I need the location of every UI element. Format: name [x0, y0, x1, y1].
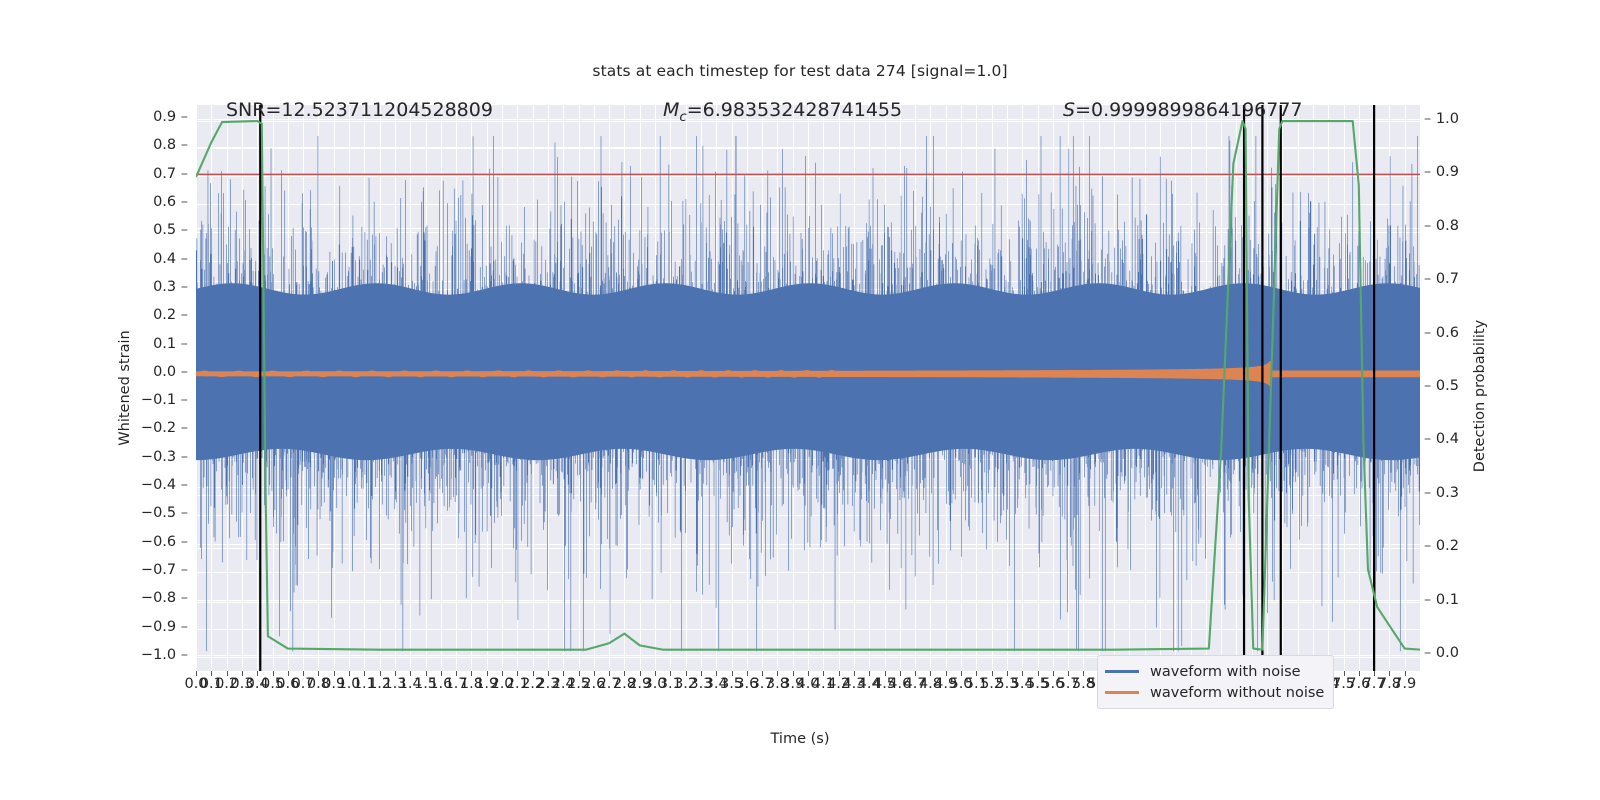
detection-probability-series: [196, 121, 1420, 650]
y-tick-left-7: 0.2 –: [153, 307, 188, 323]
y-tick-right-0: – 1.0: [1424, 111, 1459, 127]
y-tick-left-19: −1.0 –: [141, 647, 188, 663]
y-tick-left-13: −0.4 –: [141, 477, 188, 493]
y-tick-left-2: 0.7 –: [153, 166, 188, 182]
y-axis-left-label: Whitened strain: [117, 258, 133, 518]
y-tick-left-15: −0.6 –: [141, 534, 188, 550]
legend-swatch-blue: [1105, 670, 1139, 673]
y-tick-left-1: 0.8 –: [153, 137, 188, 153]
y-tick-left-17: −0.8 –: [141, 590, 188, 606]
y-tick-right-1: – 0.9: [1424, 164, 1459, 180]
page-title: stats at each timestep for test data 274…: [0, 62, 1600, 80]
event-marker-lines: [260, 105, 1374, 671]
snr-annotation: SNR=12.523711204528809: [226, 99, 493, 121]
legend[interactable]: waveform with noise waveform without noi…: [1097, 655, 1334, 709]
y-tick-right-6: – 0.4: [1424, 431, 1459, 447]
x-tick-79: 7.9: [1388, 676, 1422, 692]
chirp-mass-subscript: c: [679, 110, 686, 125]
legend-item-waveform-with-noise[interactable]: waveform with noise: [1105, 661, 1324, 682]
y-tick-right-8: – 0.2: [1424, 538, 1459, 554]
legend-swatch-orange: [1105, 691, 1139, 694]
y-tick-left-3: 0.6 –: [153, 194, 188, 210]
y-tick-right-4: – 0.6: [1424, 325, 1459, 341]
y-tick-left-0: 0.9 –: [153, 109, 188, 125]
y-tick-left-5: 0.4 –: [153, 251, 188, 267]
legend-label-0: waveform with noise: [1150, 664, 1301, 680]
overlay-layer: [196, 105, 1420, 671]
y-tick-left-18: −0.9 –: [141, 619, 188, 635]
y-tick-right-2: – 0.8: [1424, 218, 1459, 234]
y-tick-left-6: 0.3 –: [153, 279, 188, 295]
y-tick-right-9: – 0.1: [1424, 592, 1459, 608]
y-tick-left-16: −0.7 –: [141, 562, 188, 578]
y-tick-left-10: −0.1 –: [141, 392, 188, 408]
significance-symbol: S: [1063, 99, 1075, 121]
y-tick-left-14: −0.5 –: [141, 505, 188, 521]
x-axis-label: Time (s): [0, 731, 1600, 747]
legend-label-1: waveform without noise: [1150, 685, 1324, 701]
significance-value: =0.9999899864196777: [1075, 99, 1302, 121]
y-tick-left-9: 0.0 –: [153, 364, 188, 380]
y-tick-right-3: – 0.7: [1424, 271, 1459, 287]
y-tick-left-12: −0.3 –: [141, 449, 188, 465]
chirp-mass-value: =6.983532428741455: [687, 99, 902, 121]
y-tick-right-10: – 0.0: [1424, 645, 1459, 661]
y-axis-right-label: Detection probability: [1472, 256, 1488, 536]
detection-probability-trace: [196, 121, 1420, 650]
x-tickmark-79: [1405, 671, 1406, 676]
chirp-mass-symbol: M: [663, 99, 679, 121]
y-tick-left-11: −0.2 –: [141, 420, 188, 436]
plot-area[interactable]: [196, 105, 1420, 671]
significance-annotation: S=0.9999899864196777: [1063, 99, 1303, 121]
snr-annotation-text: SNR=12.523711204528809: [226, 99, 493, 121]
y-tick-right-7: – 0.3: [1424, 485, 1459, 501]
y-axis-right-label-text: Detection probability: [1472, 320, 1488, 472]
y-tick-left-4: 0.5 –: [153, 222, 188, 238]
figure-canvas: stats at each timestep for test data 274…: [0, 0, 1600, 800]
y-axis-left-label-text: Whitened strain: [117, 330, 133, 445]
legend-item-waveform-without-noise[interactable]: waveform without noise: [1105, 682, 1324, 703]
chirp-mass-annotation: Mc=6.983532428741455: [663, 99, 902, 125]
y-tick-left-8: 0.1 –: [153, 336, 188, 352]
y-tick-right-5: – 0.5: [1424, 378, 1459, 394]
